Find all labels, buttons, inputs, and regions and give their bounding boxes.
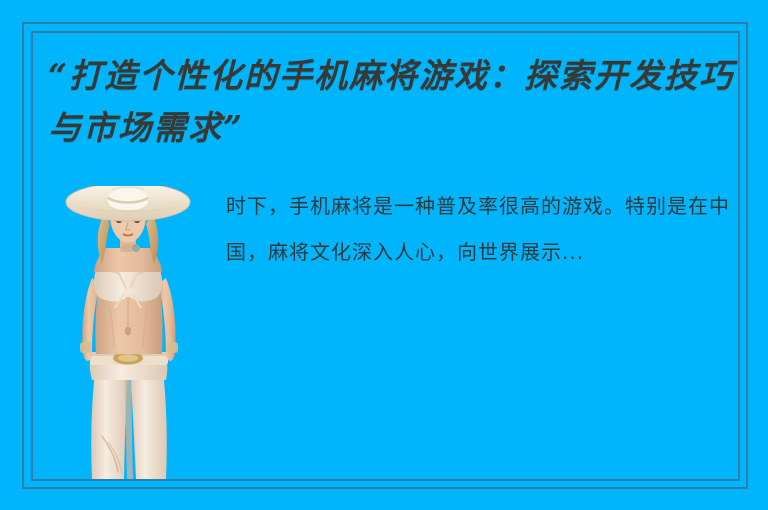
figure-woman-in-cowboy-hat bbox=[62, 186, 194, 479]
figure-illustration bbox=[62, 186, 194, 479]
article-card: “打造个性化的手机麻将游戏：探索开发技巧与市场需求” 时下，手机麻将是一种普及率… bbox=[0, 0, 768, 510]
article-title: “打造个性化的手机麻将游戏：探索开发技巧与市场需求” bbox=[48, 50, 748, 154]
article-excerpt: 时下，手机麻将是一种普及率很高的游戏。特别是在中国，麻将文化深入人心，向世界展示… bbox=[226, 183, 730, 275]
